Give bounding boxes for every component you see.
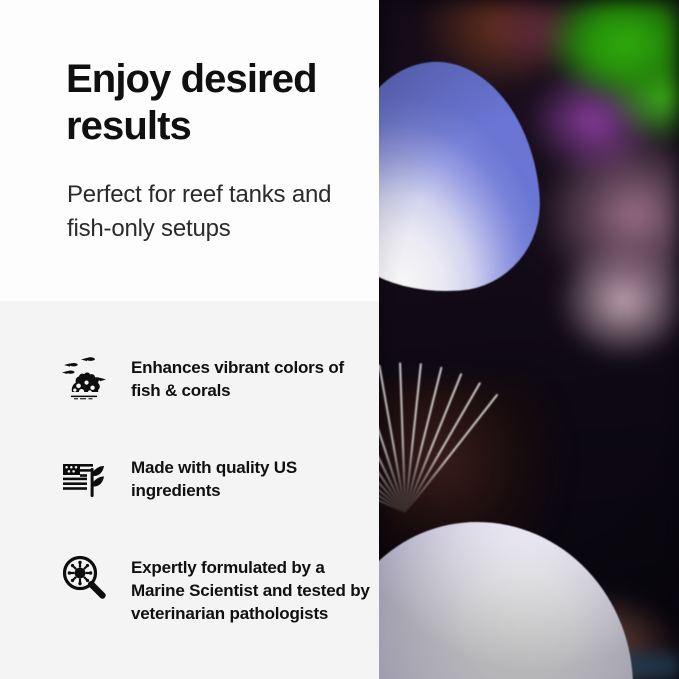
list-item: Enhances vibrant colors of fish & corals	[0, 351, 379, 403]
coral-reef-fish-icon	[58, 351, 110, 403]
hero-subtitle: Perfect for reef tanks and fish-only set…	[67, 178, 367, 246]
reef-aquarium-scene	[379, 0, 679, 679]
white-tang-fish	[379, 62, 679, 622]
feature-list: Enhances vibrant colors of fish & corals	[0, 301, 379, 679]
fish-body	[379, 522, 633, 679]
list-item: Made with quality US ingredients	[0, 451, 379, 503]
list-item-label: Made with quality US ingredients	[131, 451, 371, 502]
content-column: Enjoy desired results Perfect for reef t…	[0, 0, 379, 679]
hero-block: Enjoy desired results Perfect for reef t…	[0, 0, 379, 301]
list-item-label: Enhances vibrant colors of fish & corals	[131, 351, 371, 402]
product-feature-panel: Enjoy desired results Perfect for reef t…	[0, 0, 679, 679]
list-item-label: Expertly formulated by a Marine Scientis…	[131, 551, 371, 625]
product-photo	[379, 0, 679, 679]
list-item: Expertly formulated by a Marine Scientis…	[0, 551, 379, 625]
dorsal-fin-rays	[379, 285, 546, 529]
magnifier-microbe-icon	[58, 551, 110, 603]
us-flag-plant-icon	[58, 451, 110, 503]
page-title: Enjoy desired results	[66, 56, 366, 150]
dorsal-fin	[379, 55, 546, 299]
